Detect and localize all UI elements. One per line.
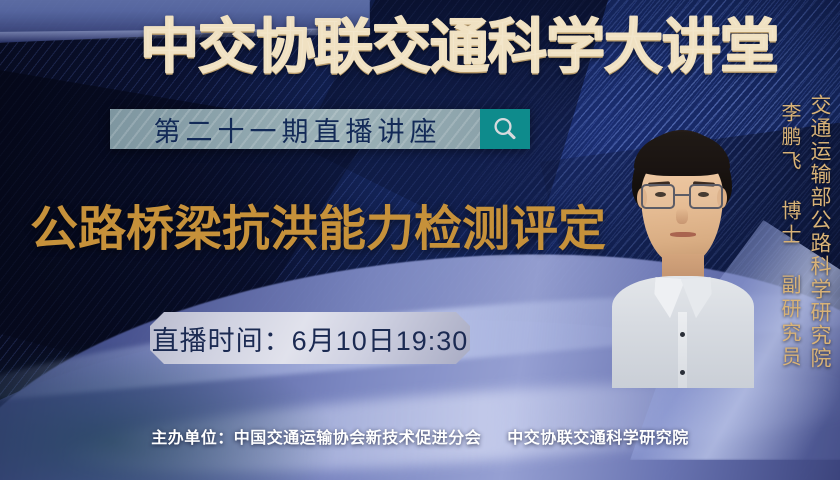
session-bar: 第二十一期直播讲座 (110, 109, 530, 149)
speaker-photo (610, 126, 754, 388)
lecture-topic-title: 公路桥梁抗洪能力检测评定 (30, 200, 630, 260)
search-button[interactable] (480, 109, 530, 149)
footer-organizer-2: 中交协联交通科学研究院 (507, 430, 689, 447)
search-icon (491, 115, 519, 143)
session-label: 第二十一期直播讲座 (149, 110, 442, 149)
session-bar-body: 第二十一期直播讲座 (110, 109, 480, 149)
speaker-shirt-placket (678, 312, 687, 388)
glasses-lens-left (641, 184, 675, 209)
footer-organizer-1: 中国交通运输协会新技术促进分会 (234, 430, 482, 447)
footer-prefix: 主办单位： (151, 430, 234, 447)
speaker-name-title: 李鹏飞 博士 副研究员 (775, 102, 804, 370)
speaker-nose (676, 208, 688, 224)
speaker-organization: 交通运输部公路科学研究院 (804, 94, 834, 370)
speaker-mouth (670, 232, 696, 237)
footer-organizers: 主办单位：中国交通运输协会新技术促进分会中交协联交通科学研究院 (0, 424, 840, 448)
speaker-shirt-button (680, 332, 685, 337)
broadcast-time-text: 直播时间：6月10日19:30 (152, 319, 469, 358)
broadcast-time-badge: 直播时间：6月10日19:30 (150, 312, 470, 364)
page-title: 中交协联交通科学大讲堂 (140, 10, 716, 84)
glasses-lens-right (689, 184, 723, 209)
glasses-bridge (675, 194, 689, 196)
poster-canvas: 中交协联交通科学大讲堂 第二十一期直播讲座 公路桥梁抗洪能力检测评定 直播时间：… (0, 0, 840, 480)
speaker-shirt-button (680, 370, 685, 375)
glasses-icon (638, 184, 726, 210)
